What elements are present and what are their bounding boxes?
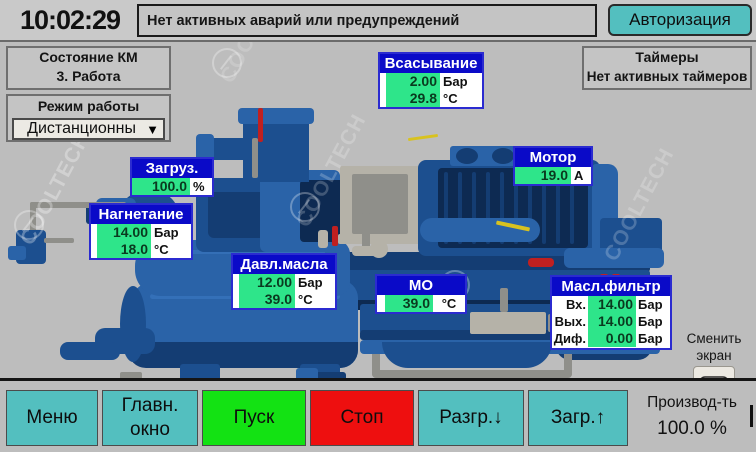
oil-filter-row: Диф. 0.00 Бар bbox=[552, 330, 670, 347]
bottom-toolbar: Меню Главн. окно Пуск Стоп Разгр.↓ Загр.… bbox=[0, 378, 756, 452]
capacity-value: 100.0 % bbox=[636, 416, 748, 442]
oil-filter-row-value: 14.00 bbox=[588, 296, 636, 313]
oil-temperature-unit: °C bbox=[295, 291, 335, 308]
menu-button[interactable]: Меню bbox=[6, 390, 98, 446]
load-title: Загруз. bbox=[132, 159, 212, 178]
oil-filter-row-label: Вх. bbox=[552, 296, 588, 313]
suction-pressure-unit: Бар bbox=[440, 73, 482, 90]
load-button[interactable]: Загр.↑ bbox=[528, 390, 628, 446]
main-window-label-line1: Главн. bbox=[122, 394, 179, 418]
oil-pressure-panel: Давл.масла 12.00 Бар 39.0 °C bbox=[231, 253, 337, 310]
oil-pressure-value: 12.00 bbox=[239, 274, 295, 291]
oil-filter-row-label: Диф. bbox=[552, 330, 588, 347]
oil-filter-row-unit: Бар bbox=[636, 313, 670, 330]
discharge-pressure-value: 14.00 bbox=[97, 224, 151, 241]
discharge-temperature-value: 18.0 bbox=[97, 241, 151, 258]
discharge-pressure-unit: Бар bbox=[151, 224, 191, 241]
suction-pressure-value: 2.00 bbox=[386, 73, 440, 90]
suction-title: Всасывание bbox=[380, 54, 482, 73]
start-button[interactable]: Пуск bbox=[202, 390, 306, 446]
oil-filter-row-value: 14.00 bbox=[588, 313, 636, 330]
suction-temperature-unit: °C bbox=[440, 90, 482, 107]
oil-filter-row-value: 0.00 bbox=[588, 330, 636, 347]
change-screen-label-line1: Сменить bbox=[676, 330, 752, 347]
authorization-button[interactable]: Авторизация bbox=[608, 4, 752, 36]
oil-temperature-value: 39.0 bbox=[239, 291, 295, 308]
timers-value: Нет активных таймеров bbox=[584, 67, 750, 86]
unload-button[interactable]: Разгр.↓ bbox=[418, 390, 524, 446]
alarm-status-box: Нет активных аварий или предупреждений bbox=[137, 4, 597, 37]
mo-temperature-unit: °C bbox=[433, 295, 465, 312]
capacity-label: Производ-ть bbox=[636, 390, 748, 416]
change-screen-group: Сменить экран bbox=[676, 330, 752, 378]
capacity-indicator: Производ-ть 100.0 % bbox=[636, 390, 748, 446]
km-state-title: Состояние КМ bbox=[8, 48, 169, 67]
km-state-value: 3. Работа bbox=[8, 67, 169, 86]
process-graphic-area: COOLTECH COOLTECH COOLTECH COOLTECH Сост… bbox=[0, 40, 756, 378]
km-state-panel: Состояние КМ 3. Работа bbox=[6, 46, 171, 90]
oil-pressure-unit: Бар bbox=[295, 274, 335, 291]
mo-title: МО bbox=[377, 276, 465, 295]
discharge-temperature-unit: °C bbox=[151, 241, 191, 258]
load-panel: Загруз. 100.0 % bbox=[130, 157, 214, 197]
oil-filter-row-label: Вых. bbox=[552, 313, 588, 330]
suction-panel: Всасывание 2.00 Бар 29.8 °C bbox=[378, 52, 484, 109]
motor-title: Мотор bbox=[515, 148, 591, 167]
load-value: 100.0 bbox=[132, 178, 190, 195]
suction-temperature-value: 29.8 bbox=[386, 90, 440, 107]
stop-button[interactable]: Стоп bbox=[310, 390, 414, 446]
alarm-status-text: Нет активных аварий или предупреждений bbox=[139, 13, 459, 29]
timers-panel: Таймеры Нет активных таймеров bbox=[582, 46, 752, 90]
operating-mode-panel: Режим работы Дистанционны ▼ bbox=[6, 94, 171, 142]
load-unit: % bbox=[190, 178, 212, 195]
operating-mode-value: Дистанционны bbox=[14, 120, 146, 138]
timers-title: Таймеры bbox=[584, 48, 750, 67]
mo-panel: МО 39.0 °C bbox=[375, 274, 467, 314]
operating-mode-select[interactable]: Дистанционны ▼ bbox=[12, 118, 165, 140]
oil-filter-row-unit: Бар bbox=[636, 330, 670, 347]
oil-filter-panel: Масл.фильтр Вх. 14.00 Бар Вых. 14.00 Бар… bbox=[550, 275, 672, 350]
chevron-down-icon: ▼ bbox=[146, 122, 163, 137]
oil-filter-row-unit: Бар bbox=[636, 296, 670, 313]
oil-filter-title: Масл.фильтр bbox=[552, 277, 670, 296]
oil-filter-row: Вх. 14.00 Бар bbox=[552, 296, 670, 313]
discharge-panel: Нагнетание 14.00 Бар 18.0 °C bbox=[89, 203, 193, 260]
mo-temperature-value: 39.0 bbox=[385, 295, 433, 312]
motor-current-unit: A bbox=[571, 167, 591, 184]
operating-mode-title: Режим работы bbox=[8, 97, 169, 116]
motor-current-value: 19.0 bbox=[515, 167, 571, 184]
clock-display: 10:02:29 bbox=[6, 3, 134, 37]
oil-filter-row: Вых. 14.00 Бар bbox=[552, 313, 670, 330]
discharge-title: Нагнетание bbox=[91, 205, 191, 224]
oil-pressure-title: Давл.масла bbox=[233, 255, 335, 274]
header-bar: 10:02:29 Нет активных аварий или предупр… bbox=[0, 0, 756, 40]
change-screen-label-line2: экран bbox=[676, 347, 752, 364]
main-window-button[interactable]: Главн. окно bbox=[102, 390, 198, 446]
main-window-label-line2: окно bbox=[130, 418, 170, 442]
change-screen-button[interactable] bbox=[693, 366, 735, 378]
motor-panel: Мотор 19.0 A bbox=[513, 146, 593, 186]
capacity-scale-mark bbox=[750, 405, 753, 427]
hmi-screen: 10:02:29 Нет активных аварий или предупр… bbox=[0, 0, 756, 452]
